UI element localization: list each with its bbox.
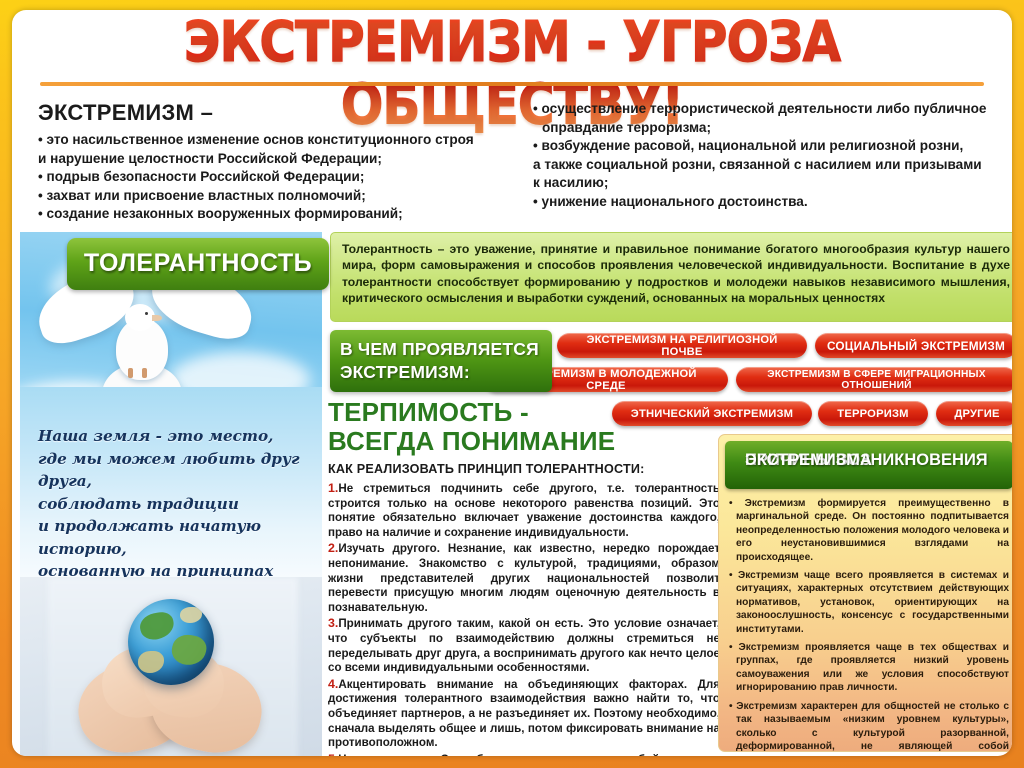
definition-item: унижение национального достоинства.	[533, 193, 1012, 211]
manifestation-pill-other[interactable]: ДРУГИЕ	[936, 401, 1012, 426]
globe-landmass	[138, 651, 164, 673]
causes-heading-text: ПРИЧИНЫ ВОЗНИКНОВЕНИЯ ЭКСТРЕМИЗМА	[735, 446, 1007, 466]
list-item: 1.Не стремиться подчинить себе другого, …	[328, 481, 720, 540]
step-text: Изучать другого. Незнание, как известно,…	[328, 542, 720, 613]
manifestation-tab-line1: В ЧЕМ ПРОЯВЛЯЕТСЯ	[340, 339, 539, 360]
poem-line: и продолжать начатую историю,	[38, 515, 306, 560]
step-number: 1.	[328, 481, 338, 495]
tolerance-steps-section: ТЕРПИМОСТЬ - ВСЕГДА ПОНИМАНИЕ КАК РЕАЛИЗ…	[328, 398, 720, 756]
tolerance-steps-list: 1.Не стремиться подчинить себе другого, …	[328, 481, 720, 756]
manifestation-pill-social[interactable]: СОЦИАЛЬНЫЙ ЭКСТРЕМИЗМ	[815, 333, 1012, 358]
causes-heading: ПРИЧИНЫ ВОЗНИКНОВЕНИЯ ЭКСТРЕМИЗМА	[725, 441, 1012, 489]
definition-item: и нарушение целостности Российской Федер…	[38, 150, 508, 168]
poem-line: где мы можем любить друг друга,	[38, 448, 306, 493]
step-text: Не стремиться подчинить себе другого, т.…	[328, 482, 720, 539]
tolerance-tab: ТОЛЕРАНТНОСТЬ	[67, 238, 329, 290]
step-number: 2.	[328, 541, 338, 555]
definition-item: осуществление террористической деятельно…	[533, 100, 1012, 118]
definition-item: а также социальной розни, связанной с на…	[533, 156, 1012, 174]
poem-line: соблюдать традиции	[38, 493, 306, 516]
globe-landmass	[180, 607, 202, 623]
dove-foot	[128, 368, 133, 378]
dove-eye	[145, 312, 148, 315]
step-number: 5.	[328, 752, 338, 756]
definition-item: это насильственное изменение основ конст…	[38, 131, 508, 149]
tolerance-steps-title-line2: ВСЕГДА ПОНИМАНИЕ	[328, 426, 615, 456]
step-number: 3.	[328, 616, 338, 630]
definition-item: создание незаконных вооруженных формиров…	[38, 205, 508, 223]
list-item: 2.Изучать другого. Незнание, как известн…	[328, 541, 720, 615]
poem-photo: Наша земля - это место, где мы можем люб…	[20, 387, 322, 577]
dove-beak	[152, 315, 162, 321]
definition-section: ЭКСТРЕМИЗМ – это насильственное изменени…	[38, 100, 1012, 225]
definition-left-column: ЭКСТРЕМИЗМ – это насильственное изменени…	[38, 100, 508, 224]
dove-foot	[142, 368, 147, 378]
list-item: Экстремизм чаще всего проявляется в сист…	[729, 569, 1009, 636]
tolerance-steps-title-line1: ТЕРПИМОСТЬ -	[328, 397, 529, 427]
poster-root: ЭКСТРЕМИЗМ - УГРОЗА ОБЩЕСТВУ! ЭКСТРЕМИЗМ…	[0, 0, 1024, 768]
tolerance-tab-label: ТОЛЕРАНТНОСТЬ	[67, 249, 329, 278]
list-item: Экстремизм характерен для общностей не с…	[729, 700, 1009, 752]
dove-head	[125, 304, 155, 331]
step-text: Чувство юмора. Способность посмеяться на…	[328, 753, 720, 756]
definition-heading: ЭКСТРЕМИЗМ –	[38, 100, 508, 126]
tolerance-panel: Толерантность – это уважение, принятие и…	[330, 232, 1012, 322]
step-text: Акцентировать внимание на объединяющих ф…	[328, 678, 720, 749]
manifestation-pill-religious[interactable]: ЭКСТРЕМИЗМ НА РЕЛИГИОЗНОЙ ПОЧВЕ	[557, 333, 807, 358]
manifestation-pill-terrorism[interactable]: ТЕРРОРИЗМ	[818, 401, 928, 426]
globe-landmass	[170, 632, 209, 667]
definition-right-column: осуществление террористической деятельно…	[533, 100, 1012, 211]
manifestation-pill-ethnic[interactable]: ЭТНИЧЕСКИЙ ЭКСТРЕМИЗМ	[612, 401, 812, 426]
globe-landmass	[138, 610, 177, 643]
hands-globe-photo	[20, 577, 322, 756]
globe-icon	[128, 599, 214, 685]
definition-item: захват или присвоение властных полномочи…	[38, 187, 508, 205]
list-item: 3.Принимать другого таким, какой он есть…	[328, 616, 720, 675]
title-divider	[40, 82, 984, 86]
step-number: 4.	[328, 677, 338, 691]
title-banner: ЭКСТРЕМИЗМ - УГРОЗА ОБЩЕСТВУ!	[12, 10, 1012, 90]
manifestation-tab-line2: ЭКСТРЕМИЗМ:	[340, 362, 470, 383]
step-text: Принимать другого таким, какой он есть. …	[328, 617, 720, 674]
causes-heading-line2: ЭКСТРЕМИЗМА	[745, 451, 1001, 471]
tolerance-steps-subtitle: КАК РЕАЛИЗОВАТЬ ПРИНЦИП ТОЛЕРАНТНОСТИ:	[328, 462, 720, 476]
list-item: 5.Чувство юмора. Способность посмеяться …	[328, 752, 720, 756]
poster-sheet: ЭКСТРЕМИЗМ - УГРОЗА ОБЩЕСТВУ! ЭКСТРЕМИЗМ…	[12, 10, 1012, 756]
list-item: 4.Акцентировать внимание на объединяющих…	[328, 677, 720, 751]
manifestation-pill-migration[interactable]: ЭКСТРЕМИЗМ В СФЕРЕ МИГРАЦИОННЫХ ОТНОШЕНИ…	[736, 367, 1012, 392]
definition-item: оправдание терроризма;	[533, 119, 1012, 137]
manifestation-tab: В ЧЕМ ПРОЯВЛЯЕТСЯ ЭКСТРЕМИЗМ:	[330, 330, 552, 392]
causes-panel: ПРИЧИНЫ ВОЗНИКНОВЕНИЯ ЭКСТРЕМИЗМА Экстре…	[718, 434, 1012, 752]
tolerance-text: Толерантность – это уважение, принятие и…	[342, 241, 1010, 307]
definition-right-list: осуществление террористической деятельно…	[533, 100, 1012, 210]
list-item: Экстремизм формируется преимущественно в…	[729, 497, 1009, 564]
definition-item: возбуждение расовой, национальной или ре…	[533, 137, 1012, 155]
definition-left-list: это насильственное изменение основ конст…	[38, 131, 508, 223]
poem-line: Наша земля - это место,	[38, 425, 306, 448]
list-item: Экстремизм проявляется чаще в тех общест…	[729, 641, 1009, 695]
definition-item: к насилию;	[533, 174, 1012, 192]
definition-item: подрыв безопасности Российской Федерации…	[38, 168, 508, 186]
